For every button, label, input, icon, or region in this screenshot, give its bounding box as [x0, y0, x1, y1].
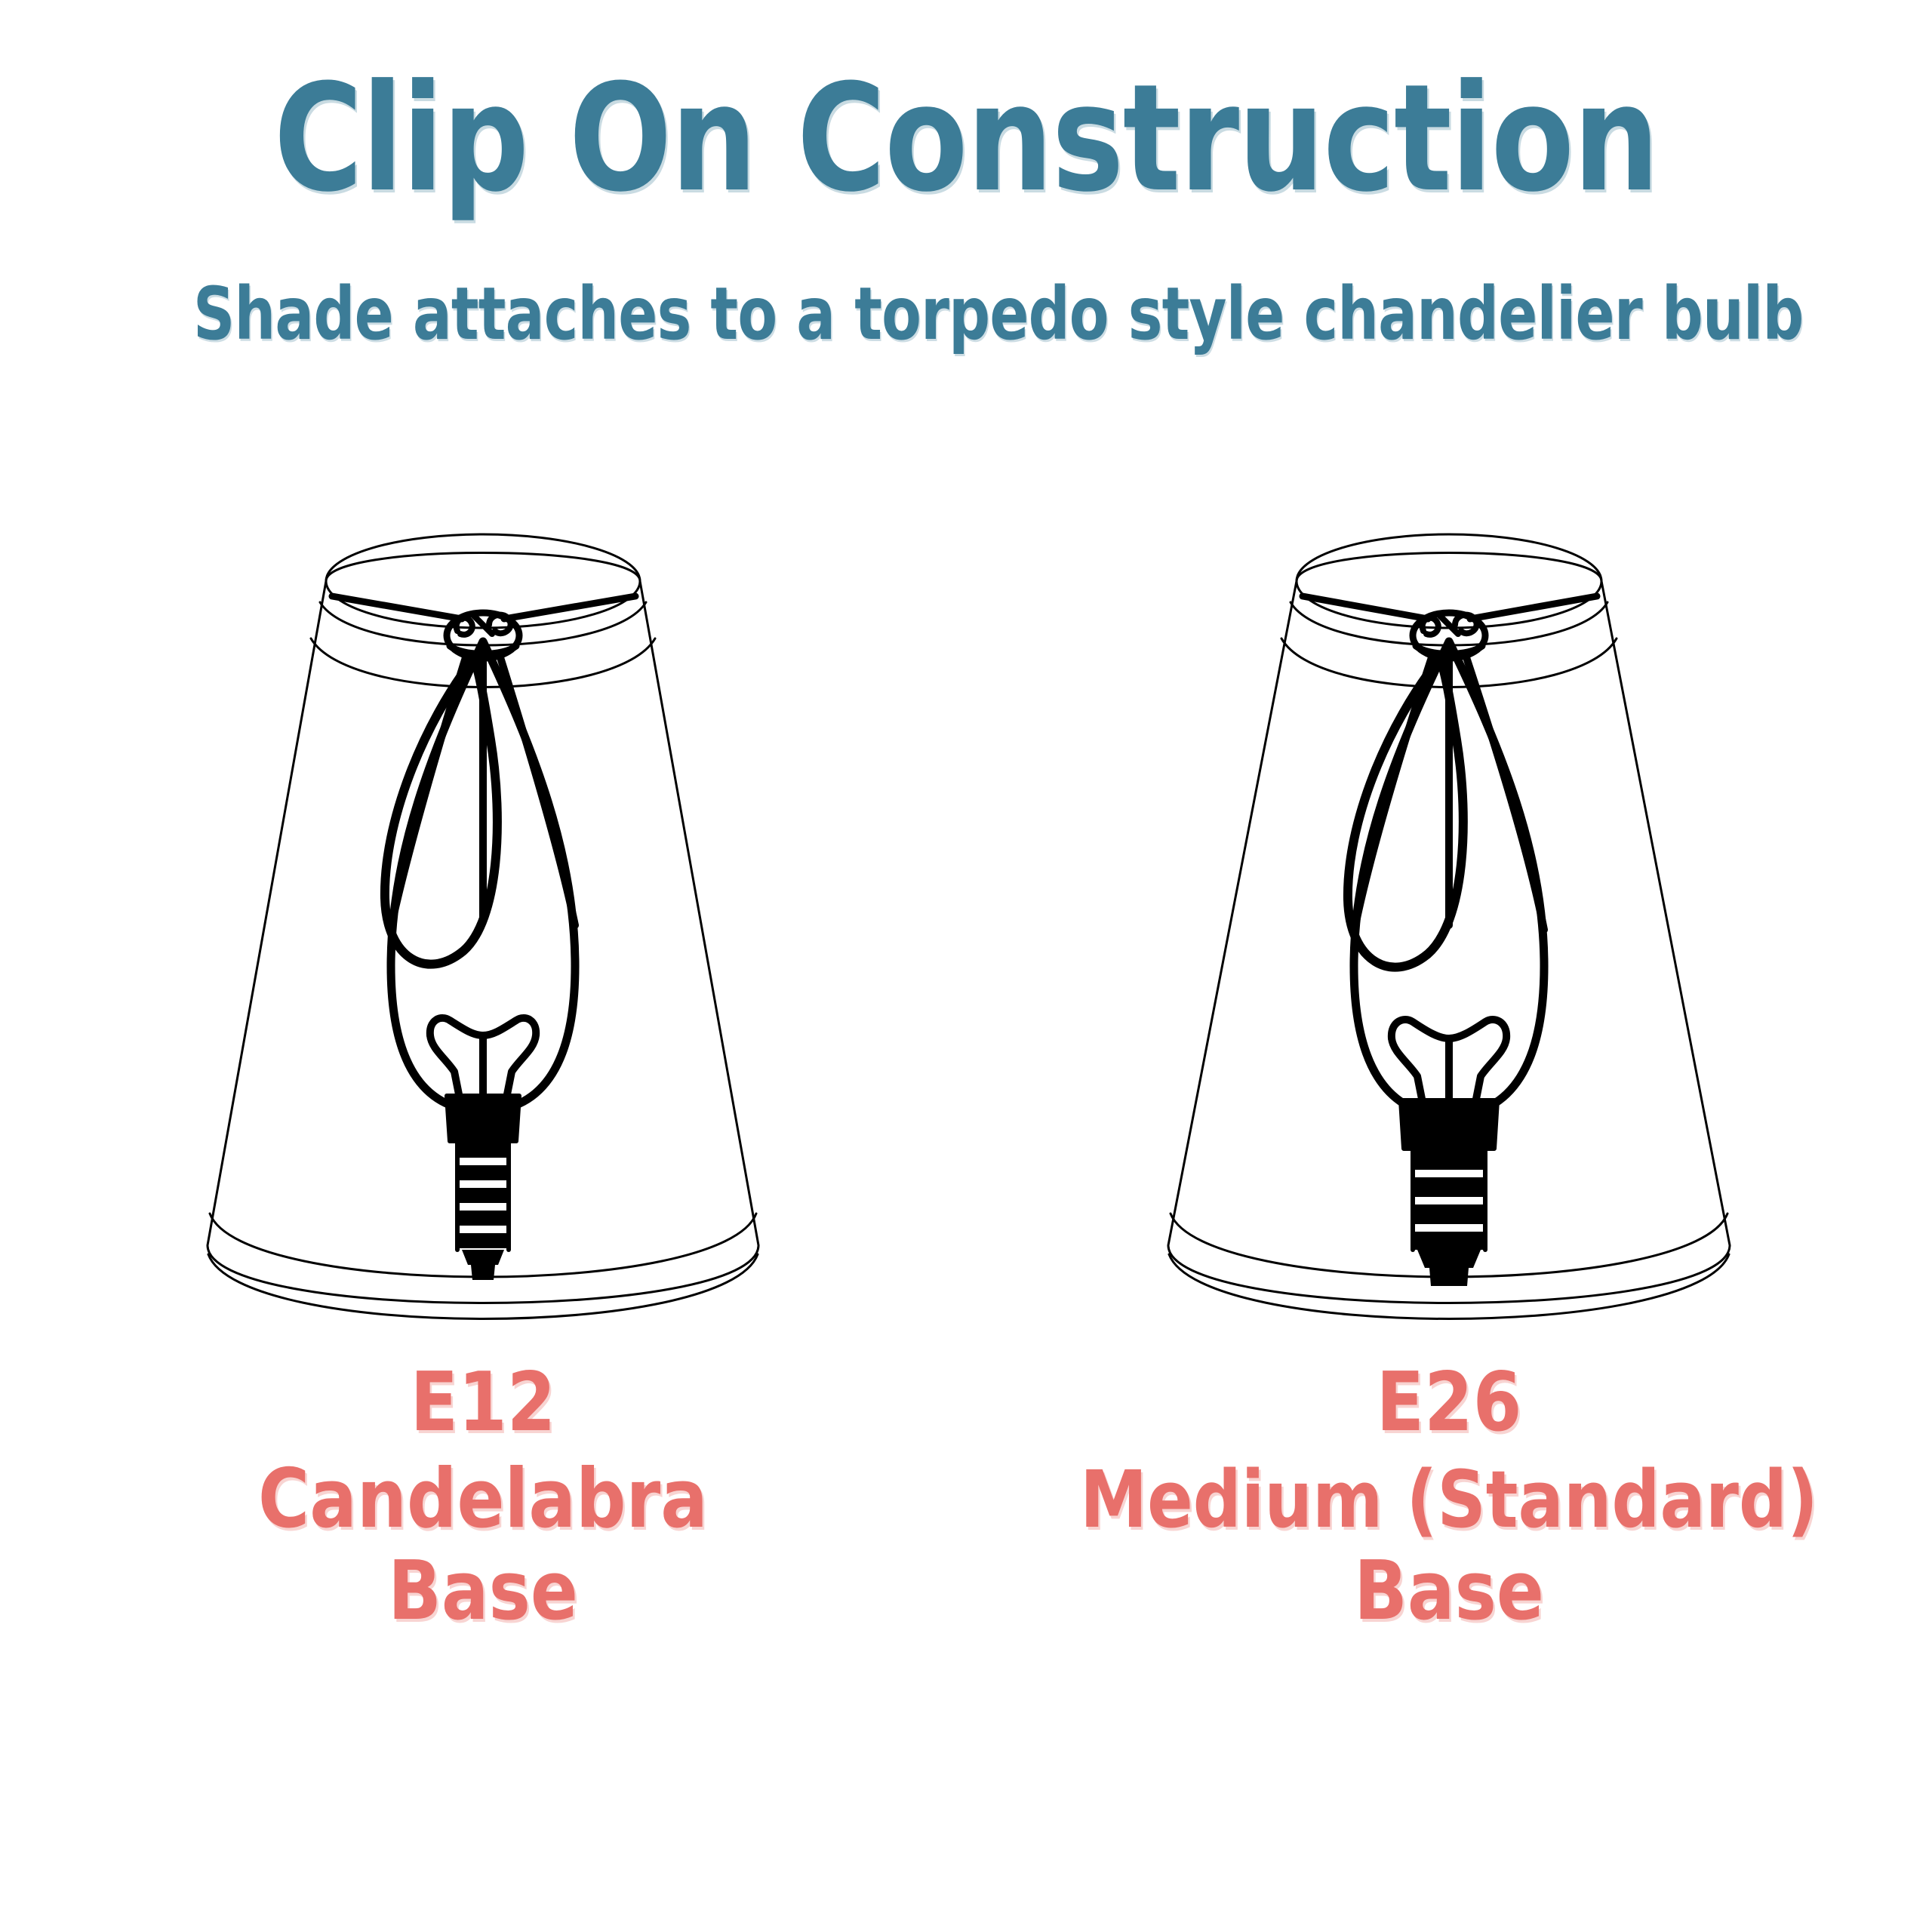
lampshade-e12-illustration — [0, 498, 966, 1366]
clip-coil-head-e26 — [1413, 613, 1485, 658]
caption-e26-code: E26 — [1034, 1358, 1865, 1447]
caption-e26: E26 Medium (Standard) Base — [966, 1358, 1932, 1638]
bulb-filament-e12 — [430, 1018, 536, 1094]
figure-e12 — [0, 498, 966, 1366]
caption-e26-base: Base — [1034, 1546, 1865, 1638]
bulb-filament-e26 — [1392, 1020, 1506, 1099]
caption-e12-code: E12 — [68, 1358, 899, 1447]
caption-e26-name: Medium (Standard) — [1034, 1454, 1865, 1546]
figure-e26 — [966, 498, 1932, 1366]
caption-e12-name: Candelabra — [68, 1454, 899, 1546]
page-subtitle: Shade attaches to a torpedo style chande… — [193, 278, 1739, 350]
bulb-collar-e26 — [1401, 1100, 1497, 1149]
bulb-collar-e12 — [447, 1096, 519, 1141]
poster-canvas: Clip On Construction Shade attaches to a… — [0, 0, 1932, 1932]
caption-e12-base: Base — [68, 1546, 899, 1638]
caption-e12: E12 Candelabra Base — [0, 1358, 966, 1638]
bulb-screw-base-e26 — [1413, 1150, 1485, 1286]
lampshade-e26-illustration — [966, 498, 1932, 1366]
clip-coil-head-e12 — [447, 613, 519, 658]
bulb-screw-base-e12 — [457, 1143, 509, 1280]
page-title: Clip On Construction — [174, 65, 1758, 213]
caption-row: E12 Candelabra Base E26 Medium (Standard… — [0, 1358, 1932, 1781]
figure-row — [0, 498, 1932, 1366]
